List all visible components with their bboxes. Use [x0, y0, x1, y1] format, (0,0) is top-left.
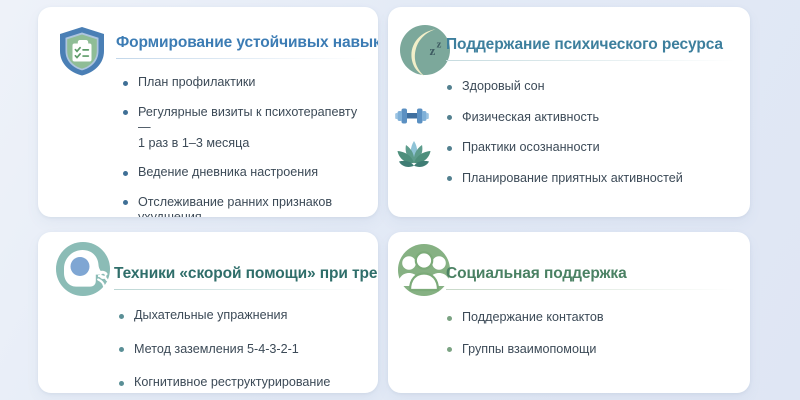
list-item: Поддержание контактов — [446, 310, 738, 326]
cards-grid: Формирование устойчивых навыков План про… — [38, 7, 750, 393]
card-header: Техники «скорой помощи» при тревоге — [114, 264, 364, 298]
svg-text:z: z — [430, 43, 436, 58]
shield-checklist-icon — [56, 25, 108, 77]
title-divider — [446, 60, 736, 61]
bullet-list: Здоровый сон Физическая активность Практ… — [446, 79, 738, 201]
bullet-list: Поддержание контактов Группы взаимопомощ… — [446, 310, 738, 373]
card-emergency-techniques: Техники «скорой помощи» при тревоге Дыха… — [38, 232, 378, 393]
lotus-icon — [394, 137, 434, 175]
card-title: Поддержание психического ресурса — [446, 35, 736, 54]
list-item: План профилактики — [122, 75, 366, 91]
title-divider — [116, 58, 364, 59]
list-item: Практики осознанности — [446, 140, 738, 156]
card-social-support: Социальная поддержка Поддержание контакт… — [388, 232, 750, 393]
list-item: Планирование приятных активностей — [446, 171, 738, 187]
people-group-icon — [396, 242, 452, 298]
list-item: Когнитивное реструктурирование — [118, 375, 366, 391]
card-skills: Формирование устойчивых навыков План про… — [38, 7, 378, 217]
dumbbell-icon — [394, 103, 430, 133]
head-breathing-icon — [54, 240, 112, 298]
card-header: Поддержание психического ресурса — [446, 35, 736, 69]
card-title: Техники «скорой помощи» при тревоге — [114, 264, 364, 283]
bullet-list: Дыхательные упражнения Метод заземления … — [118, 308, 366, 393]
card-title: Формирование устойчивых навыков — [116, 33, 364, 52]
card-mental-resource: z z Поддержание психического ресурса — [388, 7, 750, 217]
list-item: Физическая активность — [446, 110, 738, 126]
title-divider — [114, 289, 364, 290]
card-title: Социальная поддержка — [446, 264, 736, 283]
list-item: Дыхательные упражнения — [118, 308, 366, 324]
title-divider — [446, 289, 736, 290]
svg-text:z: z — [437, 39, 442, 51]
list-item: Здоровый сон — [446, 79, 738, 95]
list-item: Регулярные визиты к психотерапевту — 1 р… — [122, 105, 366, 152]
list-item: Ведение дневника настроения — [122, 165, 366, 181]
card-header: Формирование устойчивых навыков — [116, 33, 364, 67]
list-item: Группы взаимопомощи — [446, 342, 738, 358]
moon-sleep-icon: z z — [398, 23, 452, 77]
bullet-list: План профилактики Регулярные визиты к пс… — [122, 75, 366, 217]
card-header: Социальная поддержка — [446, 264, 736, 298]
list-item: Отслеживание ранних признаков ухудшения — [122, 195, 366, 218]
list-item: Метод заземления 5-4-3-2-1 — [118, 342, 366, 358]
